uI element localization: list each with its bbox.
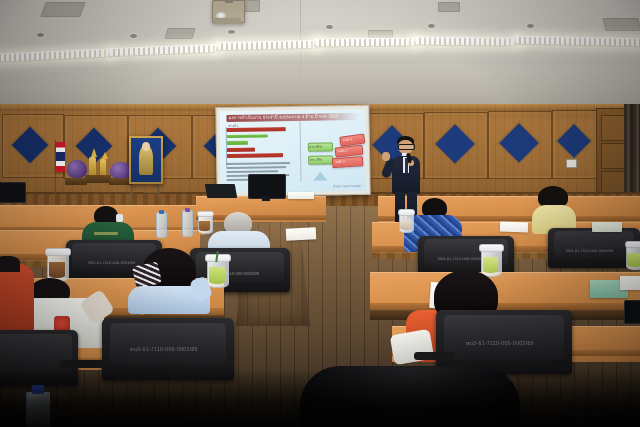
projector-bracket [214, 18, 241, 24]
bottle-cap [159, 210, 164, 214]
cup-lid [45, 248, 70, 256]
royal-portrait [129, 136, 163, 184]
red-box-label: ระดับ 1 [342, 137, 352, 143]
cup-lid [625, 241, 640, 248]
green-iced-drink[interactable] [626, 244, 640, 268]
chair-asset-tag: ทบ3-61-7110-006-0002/89 [466, 340, 534, 348]
ceiling [0, 0, 640, 96]
projection-screen: ผลการดำเนินงาน ประจำปี งบประมาณ 4 ด้าน ป… [215, 105, 370, 197]
presenter-hand [382, 152, 390, 161]
mobile-phone[interactable] [624, 300, 640, 324]
chart-bar [227, 147, 255, 151]
purple-flower-arrangement [67, 160, 87, 178]
attendee-cream-top [528, 186, 580, 234]
iced-coffee-cup[interactable] [198, 214, 211, 232]
notepad-paper[interactable] [620, 276, 640, 290]
slide-bar-chart: ด้านที่ 1 [219, 109, 365, 111]
fluorescent-light-strip [108, 44, 220, 57]
attendee-bow-hair [128, 248, 214, 314]
ceiling-spotlight [527, 24, 534, 28]
slide-title-bar: ผลการดำเนินงาน ประจำปี งบประมาณ 4 ด้าน ป… [227, 113, 358, 122]
chart-bar [227, 154, 283, 159]
cup-contents [400, 221, 411, 230]
monitor-stand [262, 196, 270, 201]
slide-green-box: ผ่าน 78% [308, 155, 334, 165]
office-chair[interactable]: ทบ3-61-7110-006-0002/89 [436, 310, 572, 374]
ceiling-spotlight [326, 25, 333, 29]
thai-flag [56, 142, 65, 172]
notepad-paper[interactable] [592, 222, 622, 232]
eyeglasses [398, 144, 415, 150]
green-box-label: ผ่าน 78% [310, 157, 322, 162]
slide-pyramid-graphic [314, 172, 328, 181]
red-box-label: ระดับ 2 [338, 148, 348, 154]
chart-bar [227, 141, 247, 145]
face-mask [116, 214, 123, 222]
foreground-shadow [0, 369, 640, 427]
notepad-paper[interactable] [500, 222, 528, 233]
air-vent [40, 2, 85, 17]
cup-contents [199, 221, 210, 231]
handheld-microphone[interactable] [406, 153, 412, 164]
portrait-display-area [55, 136, 185, 212]
ceiling-spotlight [37, 33, 44, 37]
gold-ceremonial-stand [89, 157, 96, 175]
projector-mount [225, 0, 233, 3]
cup-lid [197, 211, 214, 217]
chart-bar [227, 134, 268, 138]
iced-coffee-cup[interactable] [399, 212, 412, 231]
chair-asset-tag: ทบ3-61-7110-006-0001/89 [130, 346, 198, 354]
red-box-label: ระดับ 3 [335, 159, 345, 165]
ceiling-spotlight [130, 34, 137, 38]
portrait-head [142, 142, 149, 151]
gold-ceremonial-stand [91, 148, 97, 157]
fluorescent-light-strip [216, 40, 320, 52]
iced-coffee-cup[interactable] [47, 252, 67, 280]
bullet-line [226, 167, 286, 170]
meeting-room-photo: ผลการดำเนินงาน ประจำปี งบประมาณ 4 ด้าน ป… [0, 0, 640, 427]
attendee-vest [0, 264, 34, 332]
chair-armrest [414, 352, 454, 360]
offering-pedestal [85, 175, 111, 183]
water-bottle[interactable] [182, 210, 193, 237]
fluorescent-light-strip [314, 38, 418, 48]
fluorescent-light-strip [0, 48, 114, 62]
uniform-embroidery [94, 232, 118, 235]
cup-lid [398, 209, 415, 215]
laptop[interactable] [205, 184, 237, 198]
fluorescent-light-strip [514, 36, 640, 48]
light-switch-plate[interactable] [566, 159, 577, 168]
gold-ceremonial-stand [100, 159, 106, 175]
bullet-line [226, 163, 290, 166]
bottle-cap [185, 208, 190, 212]
desktop-monitor[interactable] [0, 182, 26, 203]
chart-label: ด้านที่ 1 [228, 124, 238, 129]
portrait-image [131, 138, 161, 182]
presentation-slide: ผลการดำเนินงาน ประจำปี งบประมาณ 4 ด้าน ป… [219, 109, 366, 193]
chair-asset-tag: ทบ3-61-7110-006-0003/89 [438, 255, 485, 262]
attendee-red-vest [0, 256, 38, 332]
slide-title-text: ผลการดำเนินงาน ประจำปี งบประมาณ 4 ด้าน ป… [229, 112, 339, 122]
slide-divider [300, 121, 302, 182]
ceiling-seam [0, 62, 640, 63]
ceiling-spotlight [228, 30, 235, 34]
water-bottle[interactable] [156, 212, 167, 238]
cup-contents [49, 262, 66, 278]
gold-ceremonial-stand [102, 152, 108, 159]
green-box-label: ผ่าน 85% [309, 144, 321, 149]
slide-footer-text: สำนักงานสาธารณสุข [333, 183, 361, 188]
door-panel [601, 143, 625, 169]
chair-asset-tag: ทบ3-61-7110-006-0004/89 [566, 247, 613, 254]
air-vent [602, 18, 640, 31]
easel-crossbar [143, 192, 159, 193]
chair-armrest [60, 360, 104, 368]
slide-red-box: ระดับ 3 [332, 156, 364, 168]
door-panel [601, 115, 625, 141]
cup-lid [479, 244, 503, 252]
air-vent [164, 28, 195, 39]
air-vent [438, 2, 460, 12]
notepad-paper[interactable] [286, 227, 317, 241]
attendee-hair [0, 256, 20, 272]
cup-contents [627, 253, 640, 267]
slide-green-box: ผ่าน 85% [307, 142, 333, 152]
table-nameplate [288, 192, 314, 199]
ceiling-spotlight [428, 24, 435, 28]
fluorescent-light-strip [414, 36, 520, 46]
offering-pedestal [65, 178, 87, 185]
